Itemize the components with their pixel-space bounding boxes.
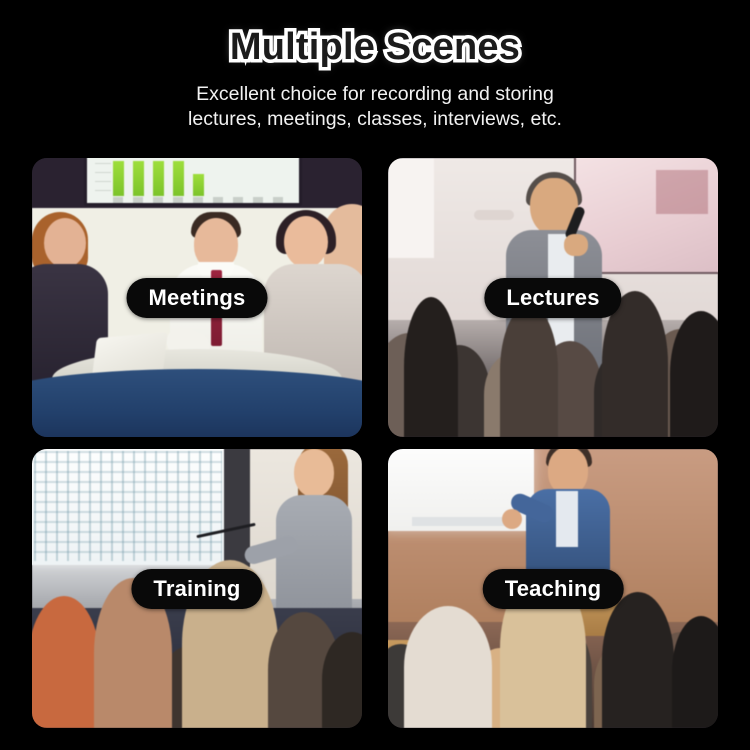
subtitle-line-1: Excellent choice for recording and stori… [0, 82, 750, 107]
header: Multiple Scenes Excellent choice for rec… [0, 0, 750, 132]
bar-chart [113, 158, 285, 196]
scene-card-teaching[interactable]: Teaching [388, 449, 718, 728]
scene-label-teaching: Teaching [483, 568, 624, 608]
page-title: Multiple Scenes [0, 26, 750, 69]
scene-label-training: Training [131, 568, 262, 608]
scene-card-meetings[interactable]: Meetings [32, 158, 362, 437]
scene-label-lectures: Lectures [484, 277, 621, 317]
subtitle-line-2: lectures, meetings, classes, interviews,… [0, 107, 750, 132]
scene-grid: Meetings [32, 158, 718, 728]
promo-page: Multiple Scenes Excellent choice for rec… [0, 0, 750, 750]
conference-table [32, 369, 362, 437]
audience [388, 538, 718, 728]
scene-card-training[interactable]: Training [32, 449, 362, 728]
projected-spreadsheet [32, 449, 226, 565]
scene-card-lectures[interactable]: Lectures [388, 158, 718, 437]
presentation-screen [84, 158, 302, 206]
page-subtitle: Excellent choice for recording and stori… [0, 82, 750, 132]
scene-label-meetings: Meetings [127, 277, 268, 317]
